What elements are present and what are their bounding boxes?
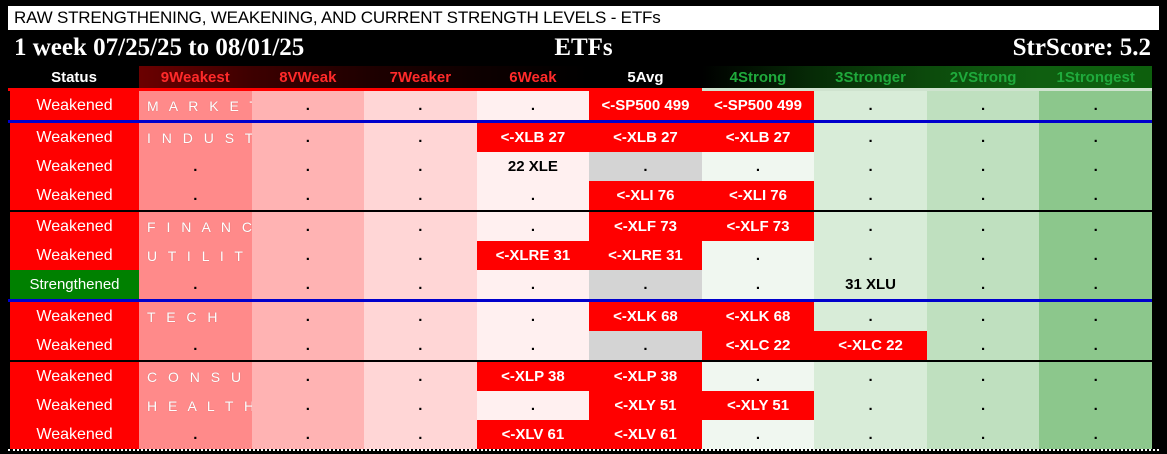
cell-6weak: <-XLV 61 [477,420,590,449]
cell-4strong: . [702,152,815,181]
cell-2vstrong: . [927,331,1040,361]
summary-bar: 1 week 07/25/25 to 08/01/25 ETFs StrScor… [8,30,1159,66]
cell-5avg: <-XLP 38 [589,361,702,391]
status-badge: Weakened [9,90,139,122]
status-badge: Weakened [9,331,139,361]
strength-table: Status9Weakest8VWeak7Weaker6Weak5Avg4Str… [8,66,1152,449]
cell-4strong: <-XLI 76 [702,181,815,211]
table-bottom-border [8,449,1159,454]
cell-8vweak: . [252,331,365,361]
cell-6weak: . [477,90,590,122]
cell-9weakest: . [139,420,252,449]
table-row[interactable]: WeakenedF I N A N C I A L /...<-XLF 73<-… [9,211,1152,241]
cell-9weakest: T E C H [139,301,252,332]
cell-1strongest: . [1039,90,1152,122]
cell-2vstrong: . [927,361,1040,391]
cell-4strong: <-SP500 499 [702,90,815,122]
table-body: WeakenedM A R K E T...<-SP500 499<-SP500… [9,90,1152,450]
cell-4strong: . [702,270,815,301]
column-header-9weakest: 9Weakest [139,66,252,90]
table-row[interactable]: WeakenedM A R K E T...<-SP500 499<-SP500… [9,90,1152,122]
status-badge: Weakened [9,361,139,391]
cell-9weakest: U T I L I T I E S [139,241,252,270]
cell-7weaker: . [364,420,477,449]
cell-8vweak: . [252,391,365,420]
cell-2vstrong: . [927,270,1040,301]
cell-2vstrong: . [927,391,1040,420]
cell-2vstrong: . [927,420,1040,449]
status-badge: Weakened [9,211,139,241]
cell-4strong: <-XLK 68 [702,301,815,332]
cell-7weaker: . [364,90,477,122]
cell-6weak: <-XLP 38 [477,361,590,391]
cell-3stronger: . [814,241,927,270]
cell-8vweak: . [252,152,365,181]
cell-1strongest: . [1039,152,1152,181]
cell-2vstrong: . [927,211,1040,241]
cell-9weakest: F I N A N C I A L / [139,211,252,241]
column-header-2vstrong: 2VStrong [927,66,1040,90]
cell-8vweak: . [252,270,365,301]
cell-7weaker: . [364,301,477,332]
cell-7weaker: . [364,241,477,270]
cell-8vweak: . [252,122,365,153]
cell-2vstrong: . [927,90,1040,122]
strength-levels-app: RAW STRENGTHENING, WEAKENING, AND CURREN… [0,0,1167,427]
cell-6weak: <-XLB 27 [477,122,590,153]
cell-4strong: <-XLC 22 [702,331,815,361]
cell-7weaker: . [364,391,477,420]
cell-4strong: . [702,361,815,391]
table-row[interactable]: WeakenedH E A L T H C A R E...<-XLY 51<-… [9,391,1152,420]
cell-7weaker: . [364,270,477,301]
cell-1strongest: . [1039,301,1152,332]
column-header-6weak: 6Weak [477,66,590,90]
status-badge: Weakened [9,420,139,449]
column-header-5avg: 5Avg [589,66,702,90]
cell-2vstrong: . [927,301,1040,332]
cell-9weakest: M A R K E T [139,90,252,122]
table-row[interactable]: Weakened.....<-XLC 22<-XLC 22.. [9,331,1152,361]
status-badge: Weakened [9,181,139,211]
cell-7weaker: . [364,152,477,181]
column-header-1strongest: 1Strongest [1039,66,1152,90]
cell-6weak: 22 XLE [477,152,590,181]
cell-5avg: <-XLRE 31 [589,241,702,270]
table-row[interactable]: WeakenedT E C H...<-XLK 68<-XLK 68... [9,301,1152,332]
cell-5avg: <-XLF 73 [589,211,702,241]
cell-5avg: . [589,152,702,181]
cell-1strongest: . [1039,331,1152,361]
cell-7weaker: . [364,122,477,153]
table-row[interactable]: Weakened...22 XLE..... [9,152,1152,181]
cell-1strongest: . [1039,211,1152,241]
table-row[interactable]: WeakenedC O N S U M E R /..<-XLP 38<-XLP… [9,361,1152,391]
cell-2vstrong: . [927,152,1040,181]
cell-9weakest: . [139,331,252,361]
cell-2vstrong: . [927,181,1040,211]
column-header-4strong: 4Strong [702,66,815,90]
status-badge: Weakened [9,301,139,332]
cell-6weak: . [477,391,590,420]
cell-5avg: <-XLK 68 [589,301,702,332]
cell-8vweak: . [252,420,365,449]
cell-9weakest: . [139,181,252,211]
cell-3stronger: . [814,420,927,449]
cell-6weak: . [477,181,590,211]
status-badge: Weakened [9,152,139,181]
cell-4strong: <-XLB 27 [702,122,815,153]
column-header-8vweak: 8VWeak [252,66,365,90]
cell-5avg: <-XLI 76 [589,181,702,211]
cell-6weak: . [477,331,590,361]
status-badge: Weakened [9,391,139,420]
cell-3stronger: . [814,391,927,420]
cell-1strongest: . [1039,122,1152,153]
cell-8vweak: . [252,361,365,391]
cell-2vstrong: . [927,241,1040,270]
cell-8vweak: . [252,241,365,270]
cell-8vweak: . [252,301,365,332]
status-badge: Weakened [9,122,139,153]
status-badge: Weakened [9,241,139,270]
table-row[interactable]: WeakenedU T I L I T I E S..<-XLRE 31<-XL… [9,241,1152,270]
cell-2vstrong: . [927,122,1040,153]
cell-1strongest: . [1039,241,1152,270]
cell-7weaker: . [364,211,477,241]
cell-1strongest: . [1039,270,1152,301]
column-header-7weaker: 7Weaker [364,66,477,90]
status-badge: Strengthened [9,270,139,301]
table-header-row: Status9Weakest8VWeak7Weaker6Weak5Avg4Str… [9,66,1152,90]
page-title: RAW STRENGTHENING, WEAKENING, AND CURREN… [8,6,1159,30]
cell-9weakest: . [139,152,252,181]
cell-9weakest: . [139,270,252,301]
cell-3stronger: . [814,301,927,332]
cell-9weakest: C O N S U M E R / [139,361,252,391]
cell-5avg: <-XLB 27 [589,122,702,153]
cell-1strongest: . [1039,391,1152,420]
cell-7weaker: . [364,361,477,391]
cell-8vweak: . [252,90,365,122]
cell-4strong: <-XLY 51 [702,391,815,420]
cell-3stronger: . [814,181,927,211]
table-row[interactable]: Strengthened......31 XLU.. [9,270,1152,301]
cell-6weak: . [477,301,590,332]
cell-4strong: <-XLF 73 [702,211,815,241]
cell-7weaker: . [364,331,477,361]
cell-9weakest: H E A L T H C A R E [139,391,252,420]
cell-5avg: <-SP500 499 [589,90,702,122]
cell-1strongest: . [1039,181,1152,211]
column-header-status: Status [9,66,139,90]
cell-4strong: . [702,241,815,270]
cell-8vweak: . [252,211,365,241]
cell-6weak: . [477,270,590,301]
cell-3stronger: 31 XLU [814,270,927,301]
cell-7weaker: . [364,181,477,211]
cell-3stronger: . [814,90,927,122]
cell-1strongest: . [1039,420,1152,449]
table-row[interactable]: WeakenedI N D U S T R I A L..<-XLB 27<-X… [9,122,1152,153]
cell-3stronger: . [814,361,927,391]
cell-5avg: <-XLY 51 [589,391,702,420]
asset-class-label: ETFs [8,30,1159,66]
cell-3stronger: <-XLC 22 [814,331,927,361]
cell-4strong: . [702,420,815,449]
cell-3stronger: . [814,211,927,241]
cell-8vweak: . [252,181,365,211]
cell-5avg: . [589,331,702,361]
cell-5avg: <-XLV 61 [589,420,702,449]
cell-3stronger: . [814,122,927,153]
cell-3stronger: . [814,152,927,181]
cell-5avg: . [589,270,702,301]
sector-label: M A R K E T [147,98,262,114]
cell-9weakest: I N D U S T R I A L [139,122,252,153]
column-header-3stronger: 3Stronger [814,66,927,90]
cell-1strongest: . [1039,361,1152,391]
strength-score: StrScore: 5.2 [1013,30,1151,66]
cell-6weak: <-XLRE 31 [477,241,590,270]
table-row[interactable]: Weakened...<-XLV 61<-XLV 61.... [9,420,1152,449]
cell-6weak: . [477,211,590,241]
sector-label: T E C H [147,309,221,325]
table-row[interactable]: Weakened....<-XLI 76<-XLI 76... [9,181,1152,211]
